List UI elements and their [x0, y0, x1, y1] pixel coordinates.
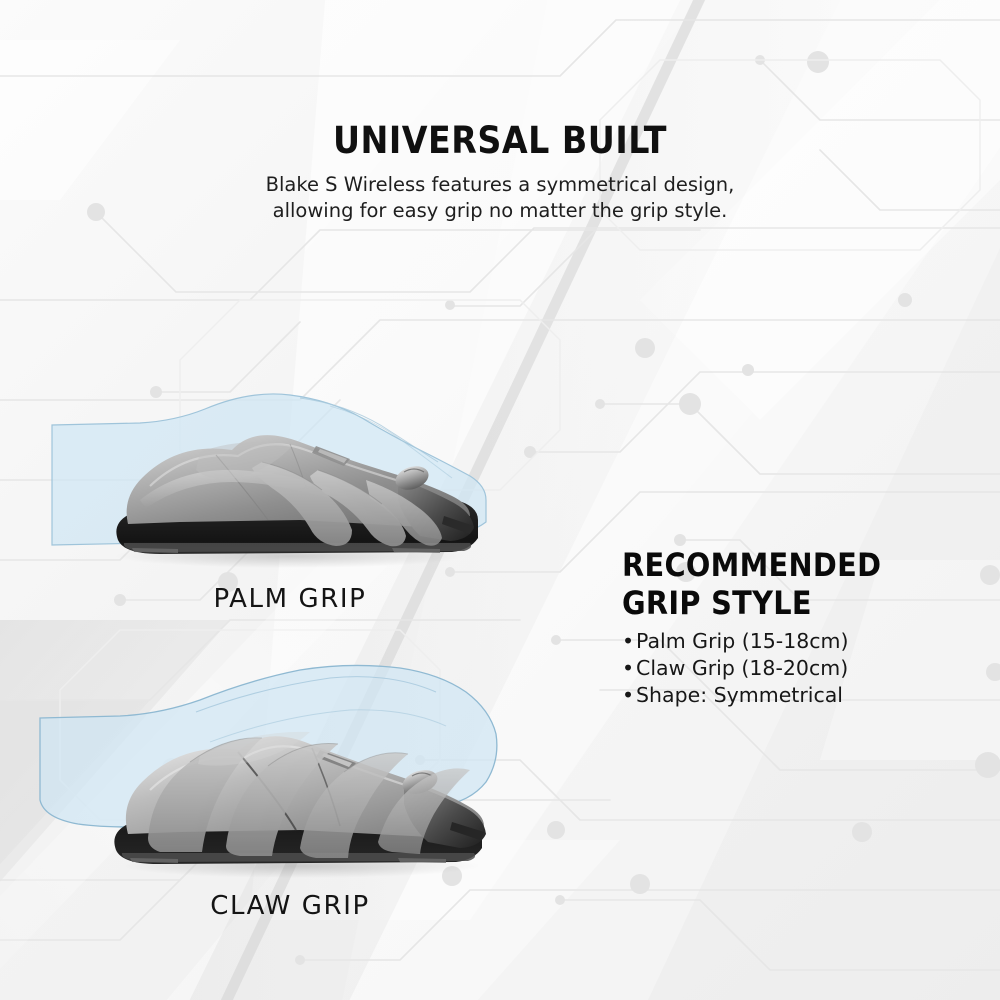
- subtitle-line-2: allowing for easy grip no matter the gri…: [273, 199, 728, 222]
- bullet-icon: •: [622, 628, 636, 655]
- bullet-icon: •: [622, 655, 636, 682]
- page-subtitle: Blake S Wireless features a symmetrical …: [0, 172, 1000, 224]
- list-item: • Palm Grip (15-18cm): [622, 628, 849, 655]
- panel-heading-line-1: RECOMMENDED: [622, 546, 881, 584]
- grip-spec-list: • Palm Grip (15-18cm) • Claw Grip (18-20…: [622, 628, 849, 709]
- text-layer: UNIVERSAL BUILT Blake S Wireless feature…: [0, 0, 1000, 1000]
- bullet-icon: •: [622, 682, 636, 709]
- list-item: • Shape: Symmetrical: [622, 682, 849, 709]
- list-item: • Claw Grip (18-20cm): [622, 655, 849, 682]
- panel-heading: RECOMMENDED GRIP STYLE: [622, 546, 881, 622]
- caption-claw-grip: CLAW GRIP: [60, 891, 520, 921]
- list-item-label: Palm Grip (15-18cm): [636, 628, 849, 655]
- caption-palm-grip: PALM GRIP: [60, 584, 520, 614]
- panel-heading-line-2: GRIP STYLE: [622, 584, 812, 622]
- list-item-label: Shape: Symmetrical: [636, 682, 843, 709]
- list-item-label: Claw Grip (18-20cm): [636, 655, 848, 682]
- subtitle-line-1: Blake S Wireless features a symmetrical …: [266, 173, 735, 196]
- infographic-poster: UNIVERSAL BUILT Blake S Wireless feature…: [0, 0, 1000, 1000]
- page-title: UNIVERSAL BUILT: [0, 119, 1000, 163]
